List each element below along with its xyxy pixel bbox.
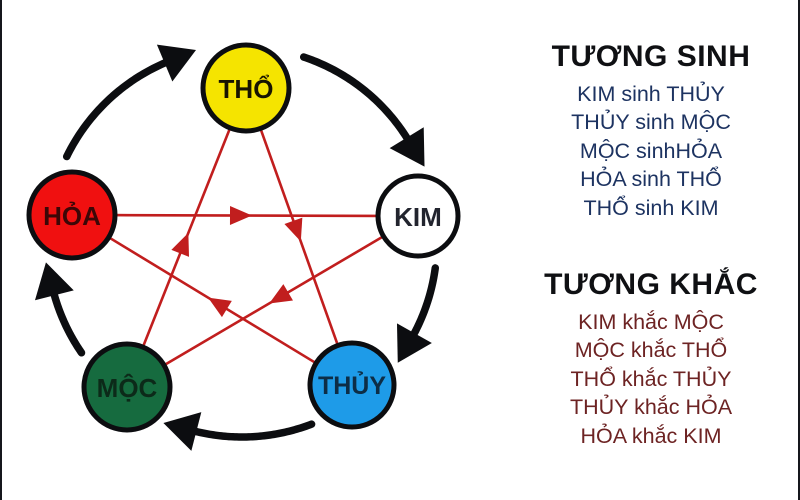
star-tho-to-thuy-arrowhead <box>284 218 302 242</box>
element-label-thuy: THỦY <box>318 370 386 400</box>
element-node-layer: THỔKIMTHỦYMỘCHỎA <box>29 45 458 430</box>
arc-thuy-to-moc-line <box>189 424 312 437</box>
rule-item: THỔ khắc THỦY <box>502 365 800 394</box>
rule-item: THỔ sinh KIM <box>502 194 800 223</box>
five-elements-diagram: THỔKIMTHỦYMỘCHỎA <box>2 0 502 500</box>
star-thuy-to-hoa-arrowhead <box>208 298 232 318</box>
arc-moc-to-hoa-line <box>52 288 81 353</box>
tuong-khac-block: TƯƠNG KHẮC KIM khắc MỘCMỘC khắc THỔTHỔ k… <box>502 268 800 450</box>
rule-item: THỦY khắc HỎA <box>502 393 800 422</box>
element-node-kim[interactable]: KIM <box>378 176 458 256</box>
rule-item: HỎA sinh THỔ <box>502 165 800 194</box>
arc-moc-to-hoa <box>35 262 82 352</box>
arc-hoa-to-tho-line <box>67 60 172 157</box>
element-node-hoa[interactable]: HỎA <box>29 172 115 258</box>
diagram-panel: THỔKIMTHỦYMỘCHỎA <box>2 0 502 500</box>
element-label-tho: THỔ <box>219 74 274 104</box>
star-hoa-to-kim-arrowhead <box>230 206 252 225</box>
rule-item: KIM sinh THỦY <box>502 80 800 109</box>
tuong-sinh-list: KIM sinh THỦYTHỦY sinh MỘCMỘC sinhHỎAHỎA… <box>502 80 800 223</box>
star-moc-to-tho-arrowhead <box>171 233 189 257</box>
arc-tho-to-kim <box>304 57 425 167</box>
arc-thuy-to-moc-arrowhead <box>163 412 201 451</box>
element-label-kim: KIM <box>394 202 442 232</box>
rule-item: HỎA khắc KIM <box>502 422 800 451</box>
arc-kim-to-thuy <box>397 268 435 363</box>
arc-thuy-to-moc <box>163 412 311 451</box>
element-label-moc: MỘC <box>97 373 158 403</box>
star-kim-to-moc-arrowhead <box>269 284 293 303</box>
legend-text-panel: TƯƠNG SINH KIM sinh THỦYTHỦY sinh MỘCMỘC… <box>502 0 800 500</box>
tuong-sinh-heading: TƯƠNG SINH <box>502 40 800 74</box>
element-label-hoa: HỎA <box>43 200 101 231</box>
tuong-sinh-block: TƯƠNG SINH KIM sinh THỦYTHỦY sinh MỘCMỘC… <box>502 40 800 222</box>
tuong-khac-heading: TƯƠNG KHẮC <box>502 268 800 302</box>
rule-item: THỦY sinh MỘC <box>502 108 800 137</box>
star-hoa-to-kim <box>109 206 384 225</box>
rule-item: MỘC sinhHỎA <box>502 137 800 166</box>
element-node-thuy[interactable]: THỦY <box>310 343 394 427</box>
tuong-khac-list: KIM khắc MỘCMỘC khắc THỔTHỔ khắc THỦYTHỦ… <box>502 308 800 451</box>
star-tho-to-thuy <box>258 123 339 351</box>
arc-hoa-to-tho <box>67 45 196 157</box>
rule-item: KIM khắc MỘC <box>502 308 800 337</box>
rule-item: MỘC khắc THỔ <box>502 336 800 365</box>
element-node-moc[interactable]: MỘC <box>84 344 170 430</box>
khac-star-layer <box>104 122 389 368</box>
arc-kim-to-thuy-line <box>411 268 436 340</box>
arc-tho-to-kim-line <box>304 57 411 144</box>
star-moc-to-tho <box>141 122 233 352</box>
arc-moc-to-hoa-arrowhead <box>35 262 74 300</box>
five-elements-infographic: THỔKIMTHỦYMỘCHỎA TƯƠNG SINH KIM sinh THỦ… <box>0 0 800 500</box>
element-node-tho[interactable]: THỔ <box>203 45 289 131</box>
